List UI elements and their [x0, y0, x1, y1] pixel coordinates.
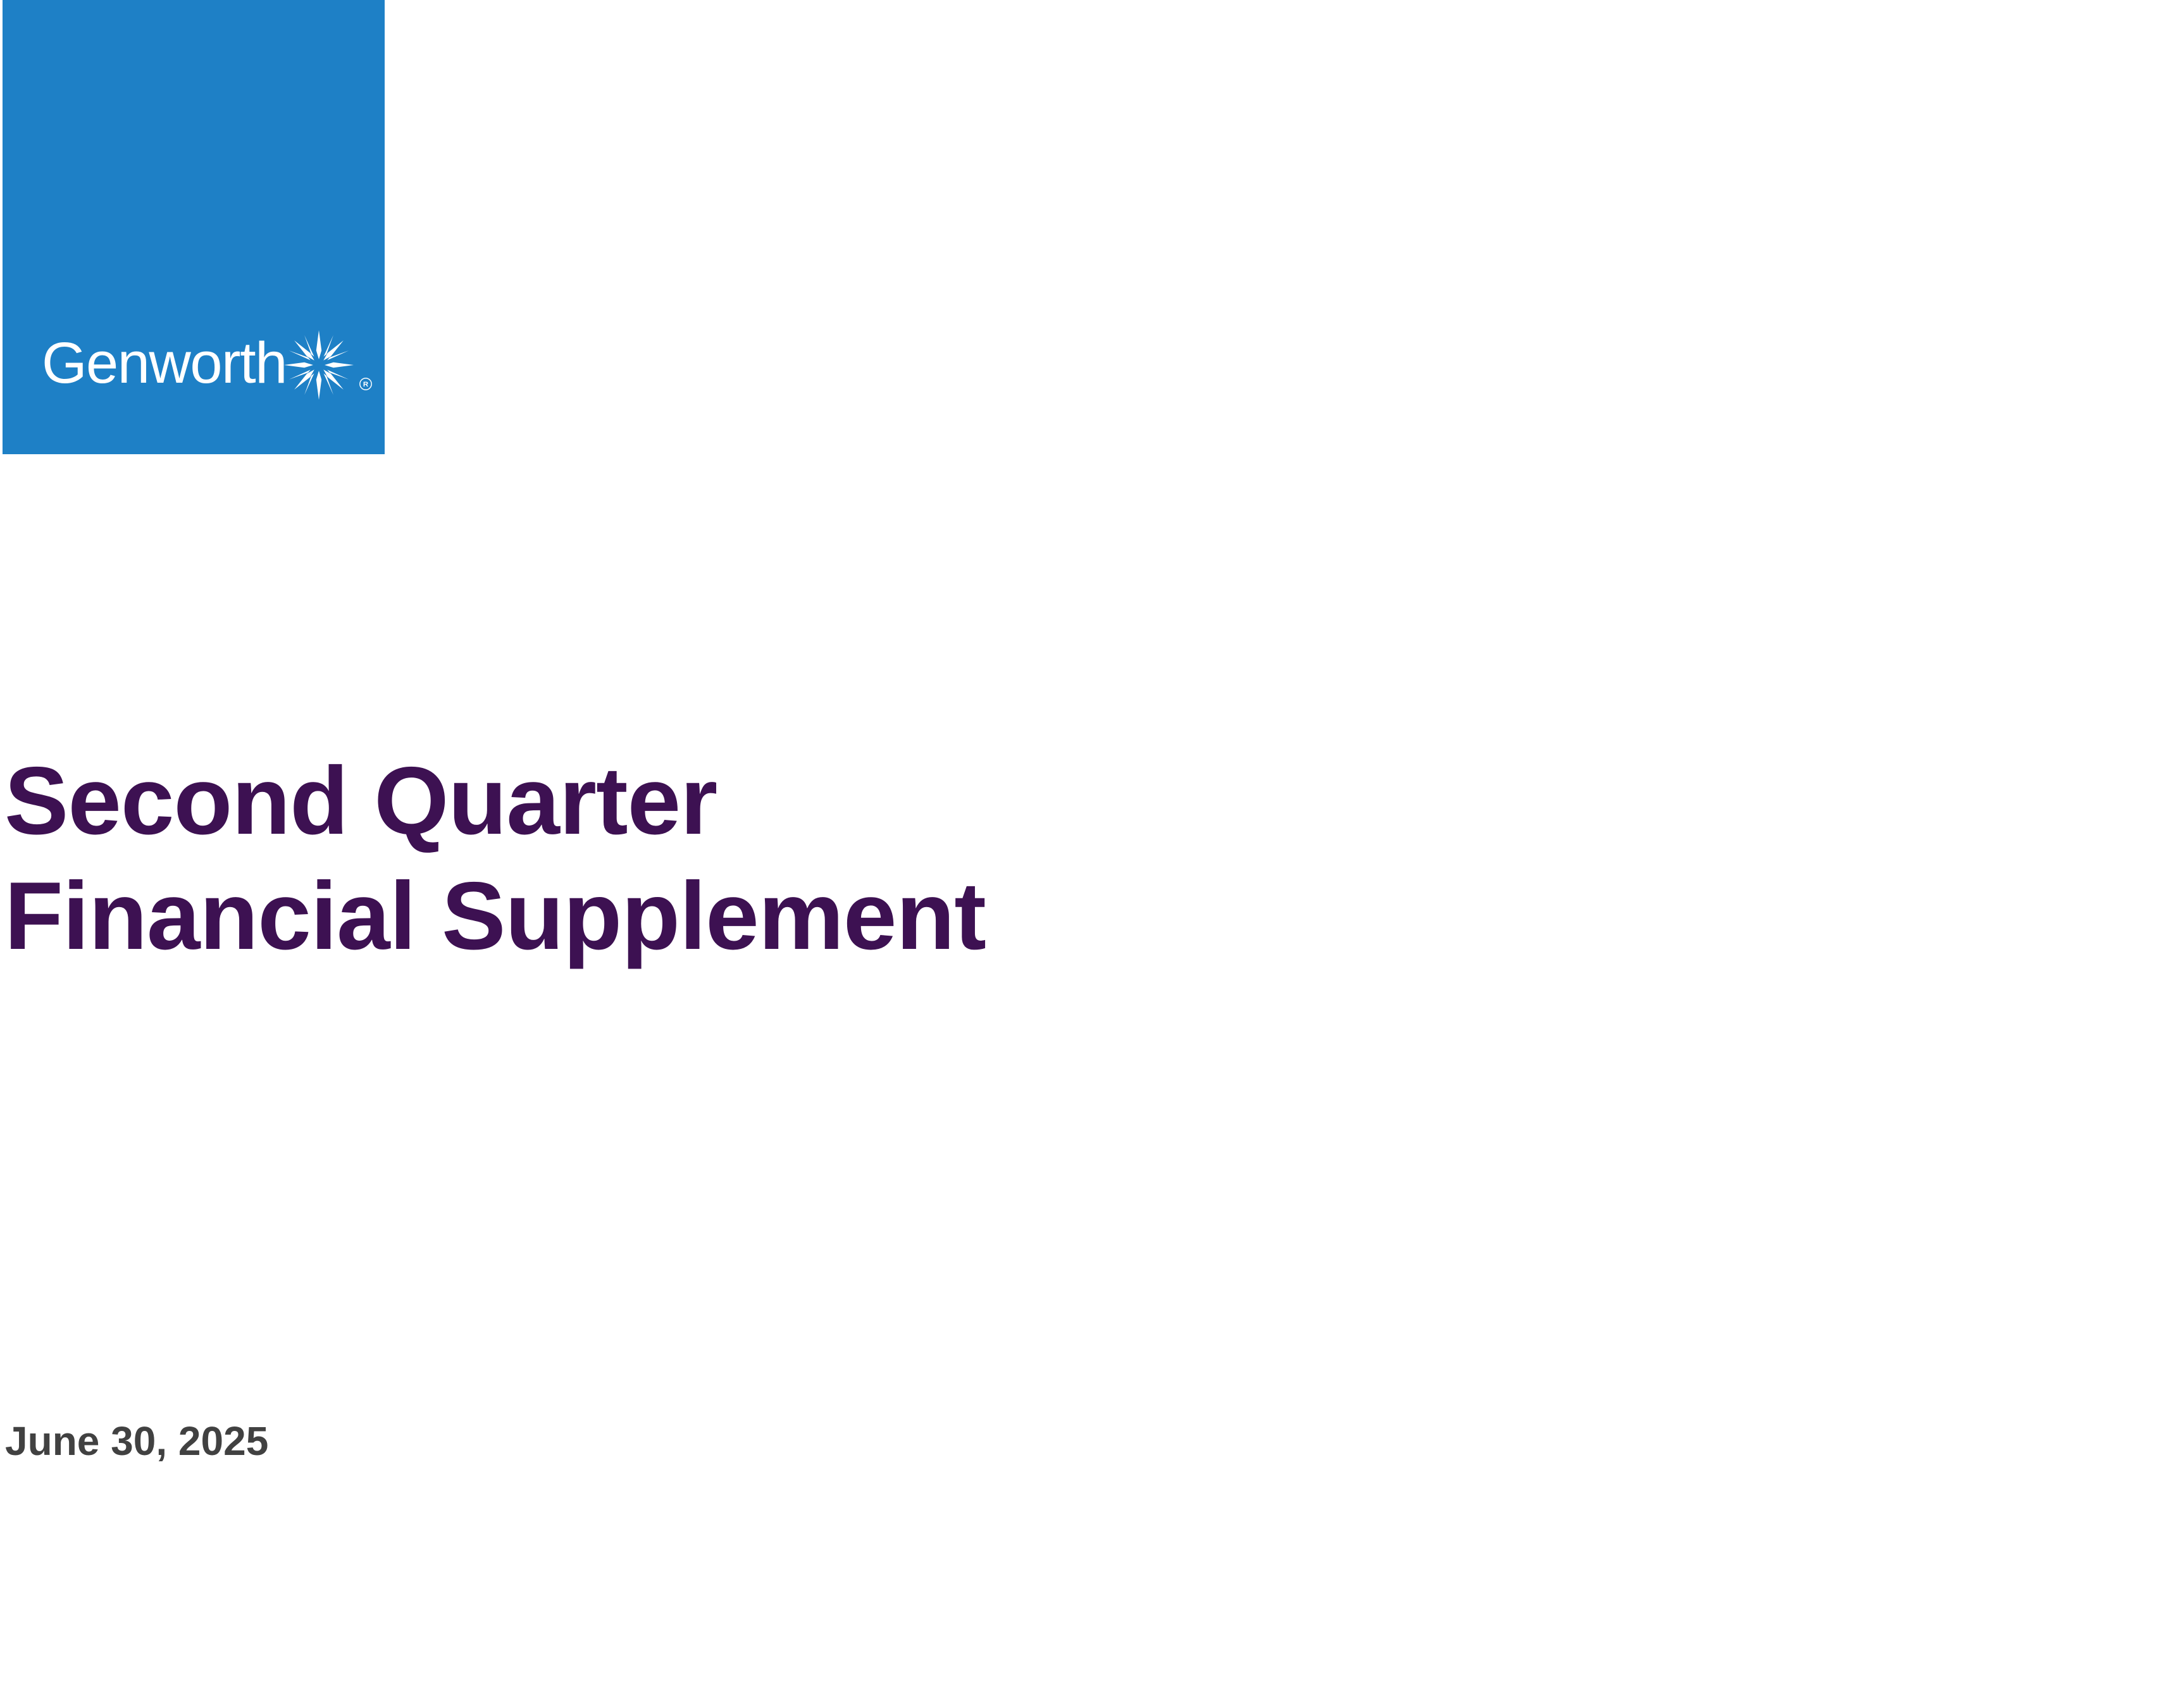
genworth-starburst-icon [282, 328, 356, 402]
svg-text:R: R [363, 381, 369, 388]
brand-block: Genworth [3, 0, 385, 454]
page-title: Second Quarter Financial Supplement [0, 743, 1518, 974]
genworth-wordmark: Genworth [42, 334, 287, 392]
report-date: June 30, 2025 [5, 1417, 268, 1465]
cover-page: Genworth [0, 0, 2184, 1708]
page-title-line-2: Financial Supplement [0, 858, 1518, 974]
report-date-block: June 30, 2025 [5, 1417, 268, 1465]
page-title-line-1: Second Quarter [0, 743, 1518, 858]
registered-trademark-icon: R [359, 377, 373, 391]
genworth-logo-lockup: Genworth [39, 328, 368, 416]
